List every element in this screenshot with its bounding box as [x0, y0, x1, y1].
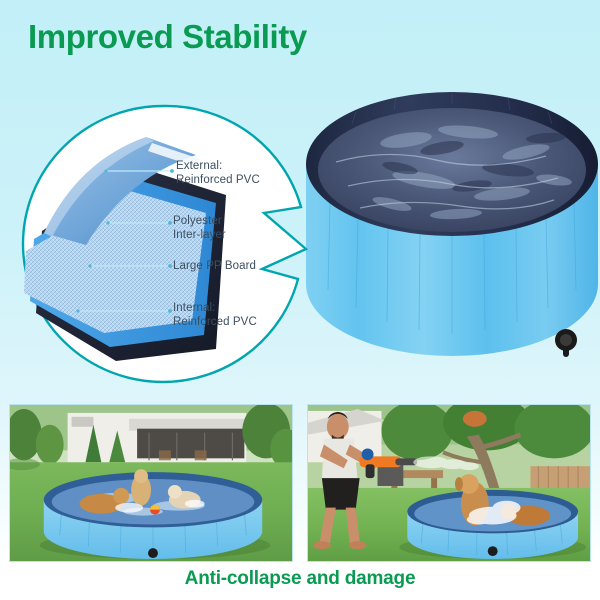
drain-valve [488, 546, 498, 556]
pergola [137, 429, 244, 459]
photo-right-scene [308, 405, 590, 561]
material-callout: External: Reinforced PVC Polyester Inter… [20, 103, 350, 385]
bottom-caption: Anti-collapse and damage [0, 568, 600, 590]
photo-row [0, 404, 600, 562]
patio-chair [378, 464, 404, 486]
photo-man-water-gun [307, 404, 591, 562]
callout-bubble [20, 103, 350, 385]
drain-valve [148, 548, 158, 558]
drain-valve [555, 329, 577, 357]
shorts [322, 478, 360, 510]
page-title: Improved Stability [28, 18, 307, 56]
photo-dogs-in-pool [9, 404, 293, 562]
pool-with-dogs [44, 469, 262, 559]
infographic-root: Improved Stability [0, 0, 600, 600]
photo-left-scene [10, 405, 292, 561]
